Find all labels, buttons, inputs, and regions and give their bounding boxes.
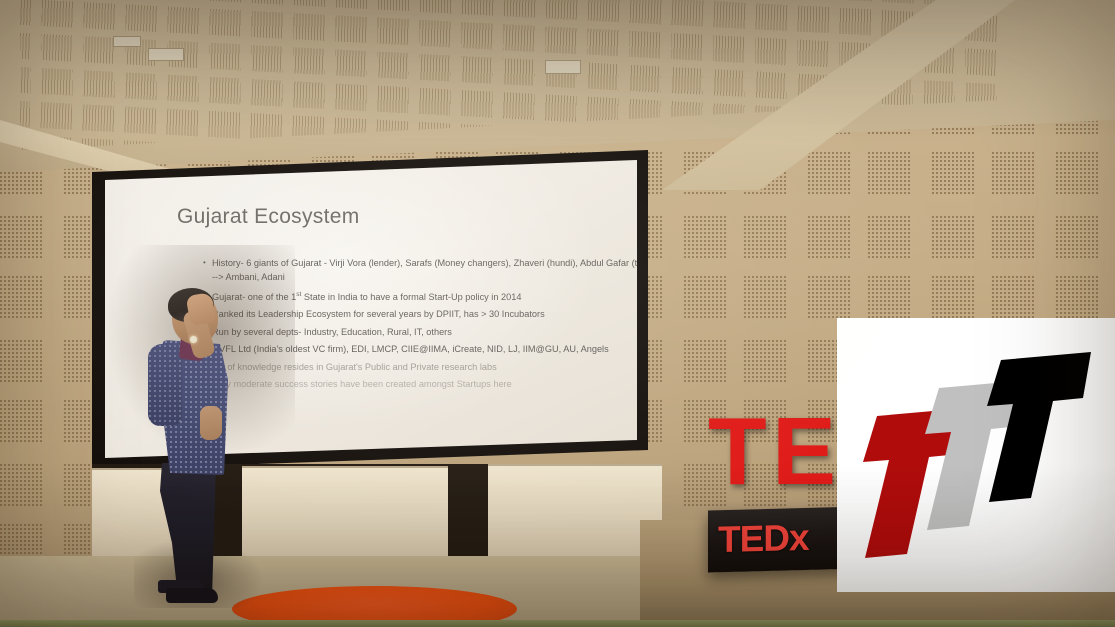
- slide-bullet: Only moderate success stories have been …: [203, 378, 663, 391]
- ceiling-vent-1: [148, 48, 184, 61]
- slide-bullet: Lot of knowledge resides in Gujarat's Pu…: [203, 361, 663, 374]
- cabinet-gap: [448, 468, 488, 562]
- speaker-lower-arm: [200, 406, 222, 440]
- slide-bullet: GVFL Ltd (India's oldest VC firm), EDI, …: [203, 343, 663, 356]
- speaker-person: [140, 288, 252, 610]
- speaker-sleeve: [148, 344, 182, 426]
- ceiling-vent-2: [545, 60, 581, 74]
- slide-bullet: Gujarat- one of the 1st State in India t…: [203, 288, 663, 304]
- slide-bullet: Ranked its Leadership Ecosystem for seve…: [203, 308, 663, 321]
- t-glyph-black: [987, 346, 1099, 506]
- ted-letter-e: E: [772, 404, 834, 500]
- cabinet-panel: [488, 464, 662, 562]
- speaker-ring: [190, 336, 197, 343]
- floor-edge-strip: [0, 620, 1115, 627]
- ted-letter-t: T: [708, 404, 765, 500]
- slide-bullet: History- 6 giants of Gujarat - Virji Vor…: [203, 257, 663, 284]
- cabinet-panel: [242, 466, 448, 564]
- slide-title: Gujarat Ecosystem: [177, 205, 360, 229]
- stage-scene: Gujarat Ecosystem History- 6 giants of G…: [0, 0, 1115, 627]
- slide-bullet: Run by several depts- Industry, Educatio…: [203, 326, 663, 339]
- speaker-shoe-front: [166, 588, 218, 603]
- ted-sign-base-text: TEDx: [718, 519, 809, 558]
- logo-overlay-card: [837, 318, 1115, 592]
- ceiling-vent-3: [113, 36, 141, 47]
